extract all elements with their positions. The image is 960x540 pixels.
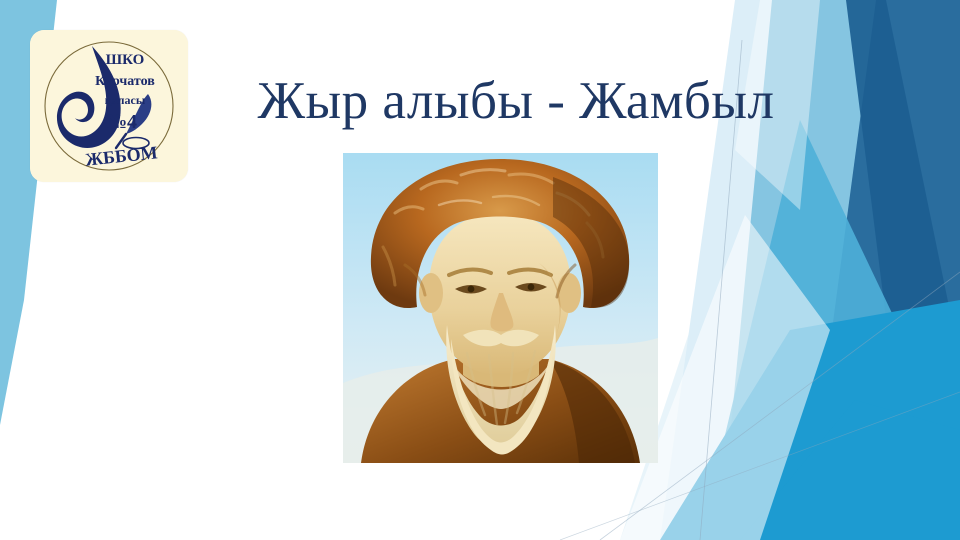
- school-logo: ШКО Курчатов қаласы №4 ЖББОМ: [30, 30, 188, 182]
- zhambyl-zhabayev-portrait: [343, 153, 658, 463]
- logo-line-3: қаласы: [105, 93, 146, 107]
- logo-line-2: Курчатов: [95, 74, 155, 89]
- decor-deep-sliver: [846, 0, 960, 430]
- portrait-pupil-left: [468, 286, 475, 293]
- logo-line-1: ШКО: [106, 52, 145, 68]
- portrait-pupil-right: [528, 284, 535, 291]
- decor-bright-lower-right: [660, 300, 960, 540]
- logo-number: №4: [107, 111, 137, 133]
- decor-steel-slab: [820, 0, 960, 470]
- decor-mid-blue-diagonal: [700, 120, 900, 540]
- presentation-slide: ШКО Курчатов қаласы №4 ЖББОМ Жыр алыбы -…: [0, 0, 960, 540]
- portrait-ear-left: [419, 273, 443, 313]
- decor-bright-bleed: [740, 400, 960, 540]
- slide-title: Жыр алыбы - Жамбыл: [196, 74, 836, 130]
